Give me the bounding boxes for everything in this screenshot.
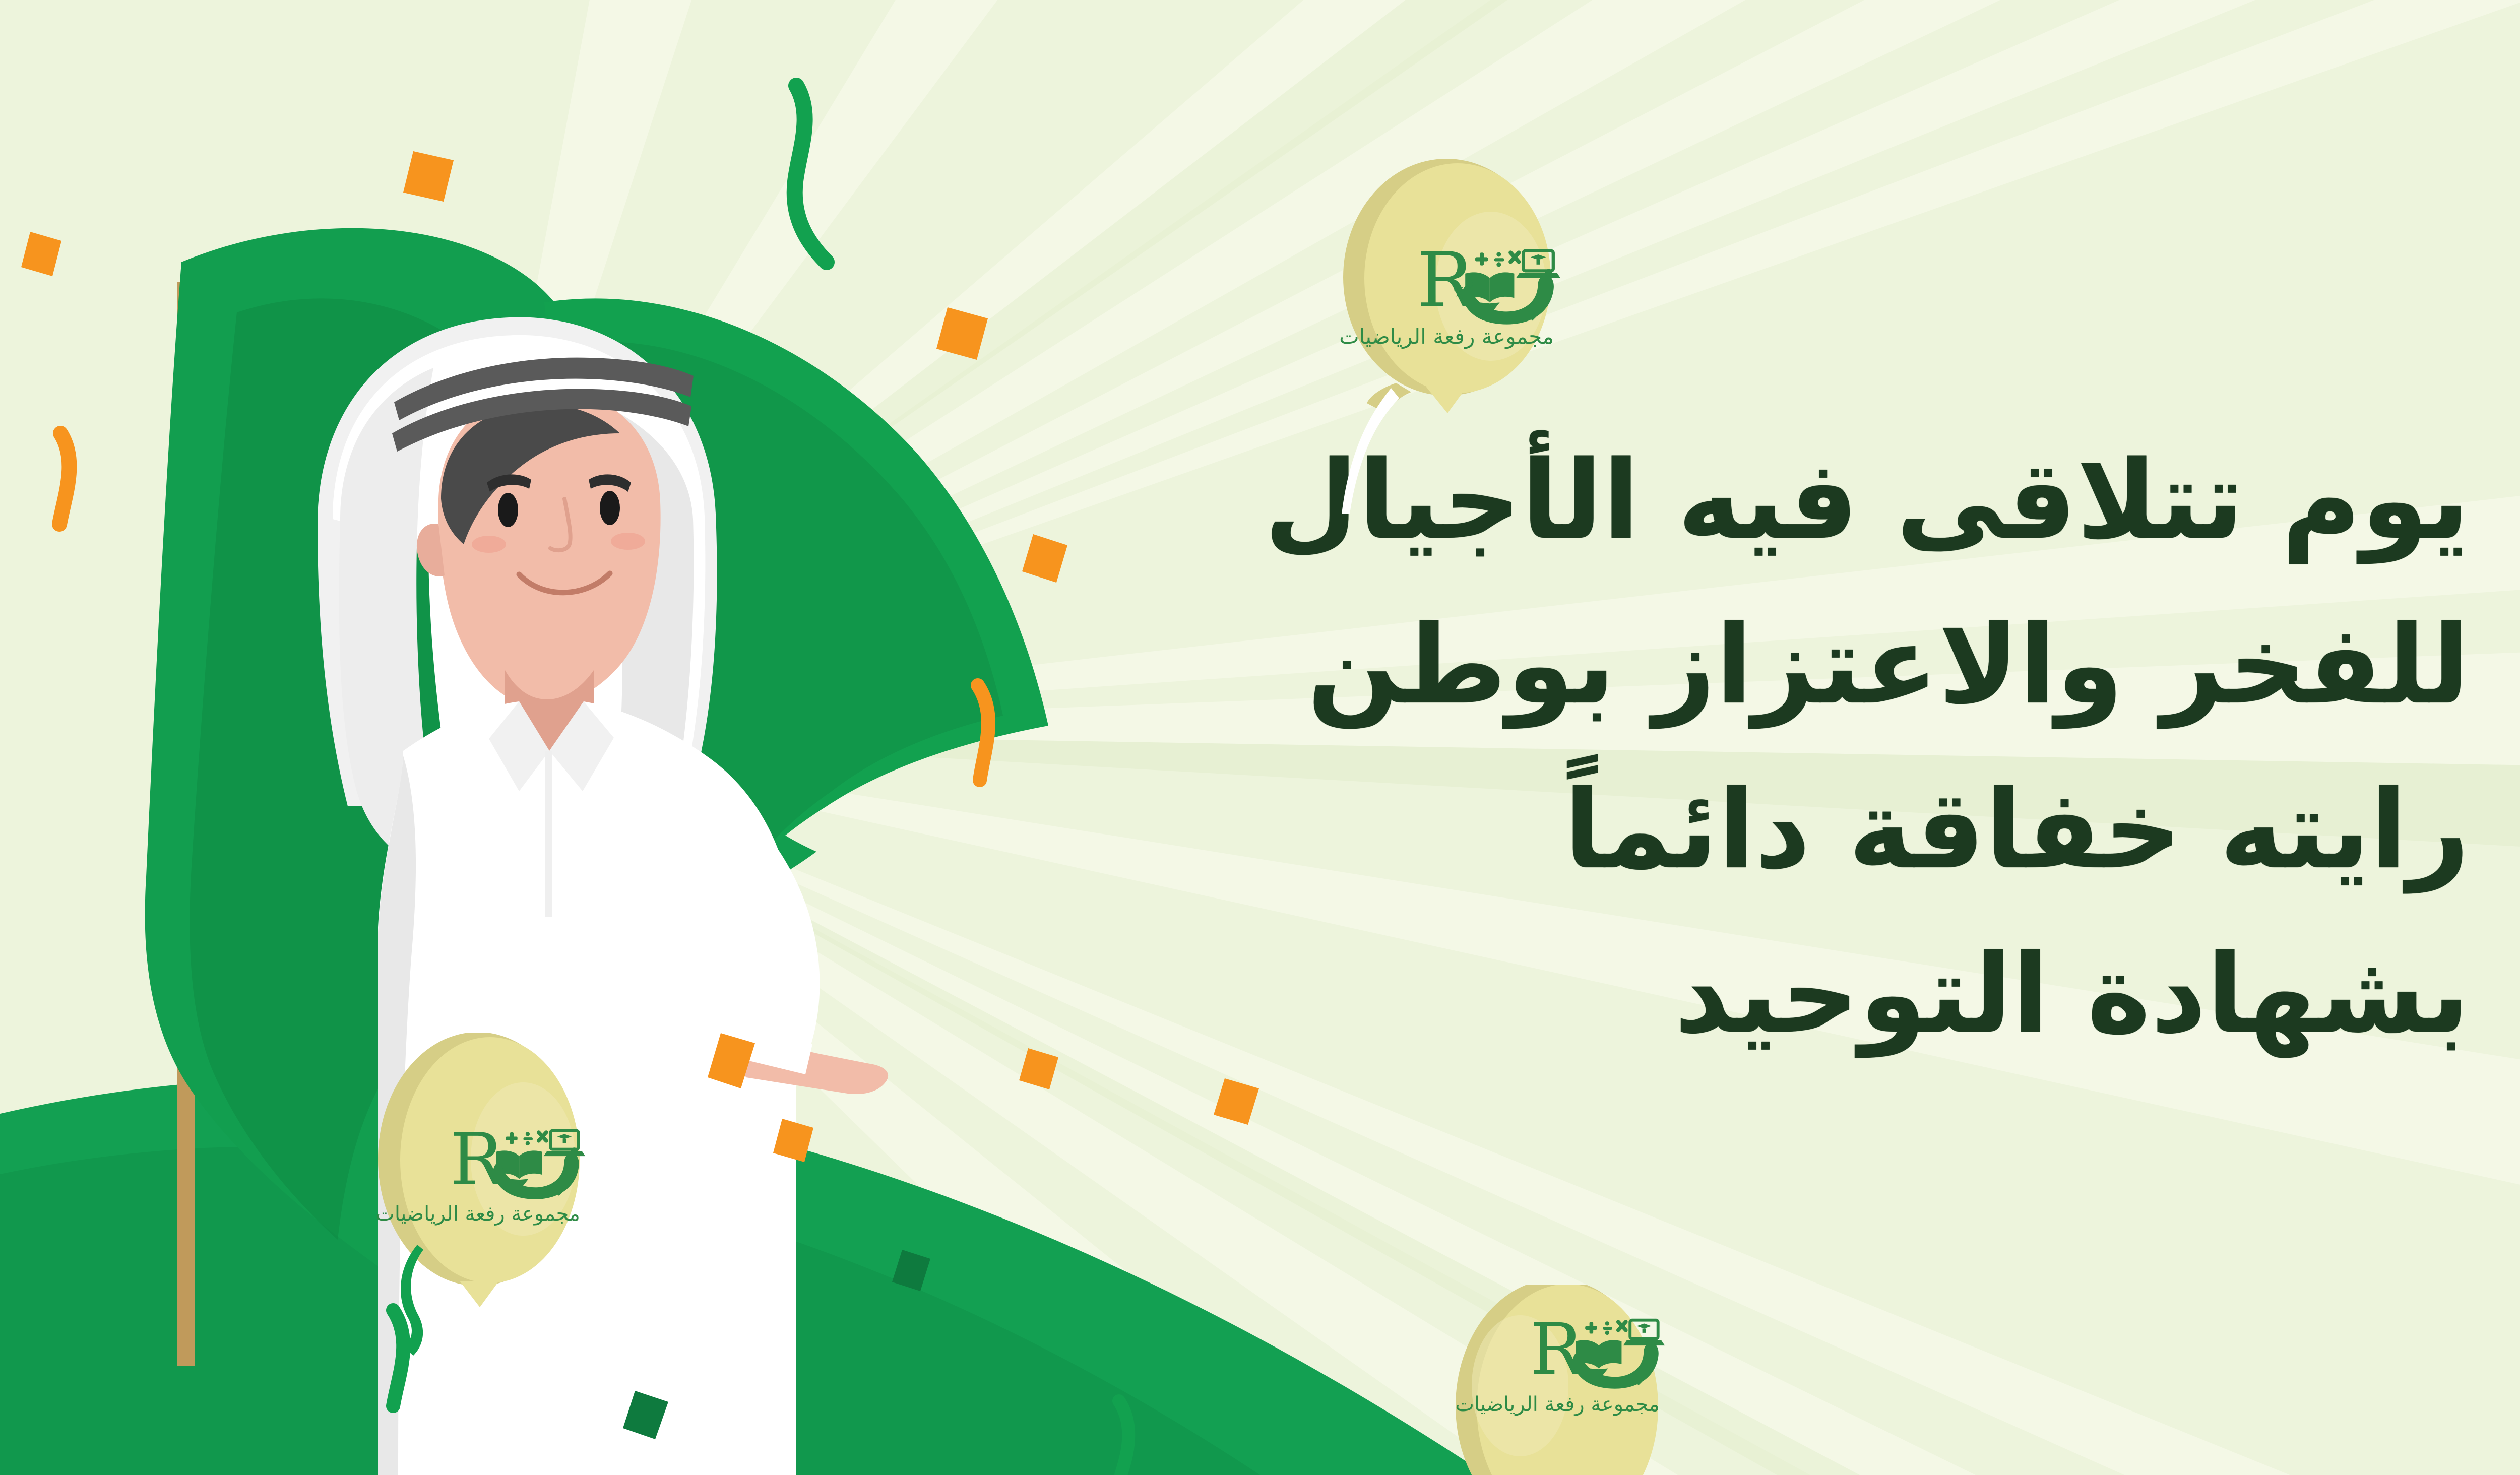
svg-text:%: %: [1454, 285, 1466, 299]
headline-line-2: للفخر والاعتزاز بوطن: [932, 583, 2470, 748]
brand-name: مجموعة رفعة الرياضيات: [1339, 324, 1554, 349]
page-title: يوم تتلاقى فيه الأجيال للفخر والاعتزاز ب…: [932, 418, 2470, 1077]
balloon-icon: R مجموعة رفعة الرياضيات: [348, 1033, 610, 1475]
balloon-icon: R مجموعة رفعة الرياضيات: [1426, 1285, 1688, 1475]
balloon-icon: R مجموعة رفعة الرياضيات: [1310, 151, 1583, 514]
headline-line-4: بشهادة التوحيد: [932, 912, 2470, 1077]
brand-name: مجموعة رفعة الرياضيات: [1455, 1393, 1660, 1416]
brand-name: مجموعة رفعة الرياضيات: [375, 1202, 580, 1226]
saudi-flag-day-banner: لا إله إلا الله محمد رسول الله: [0, 0, 2520, 1475]
headline-line-3: رايته خفاقة دائماً: [932, 748, 2470, 913]
headline-line-1: يوم تتلاقى فيه الأجيال: [932, 418, 2470, 583]
